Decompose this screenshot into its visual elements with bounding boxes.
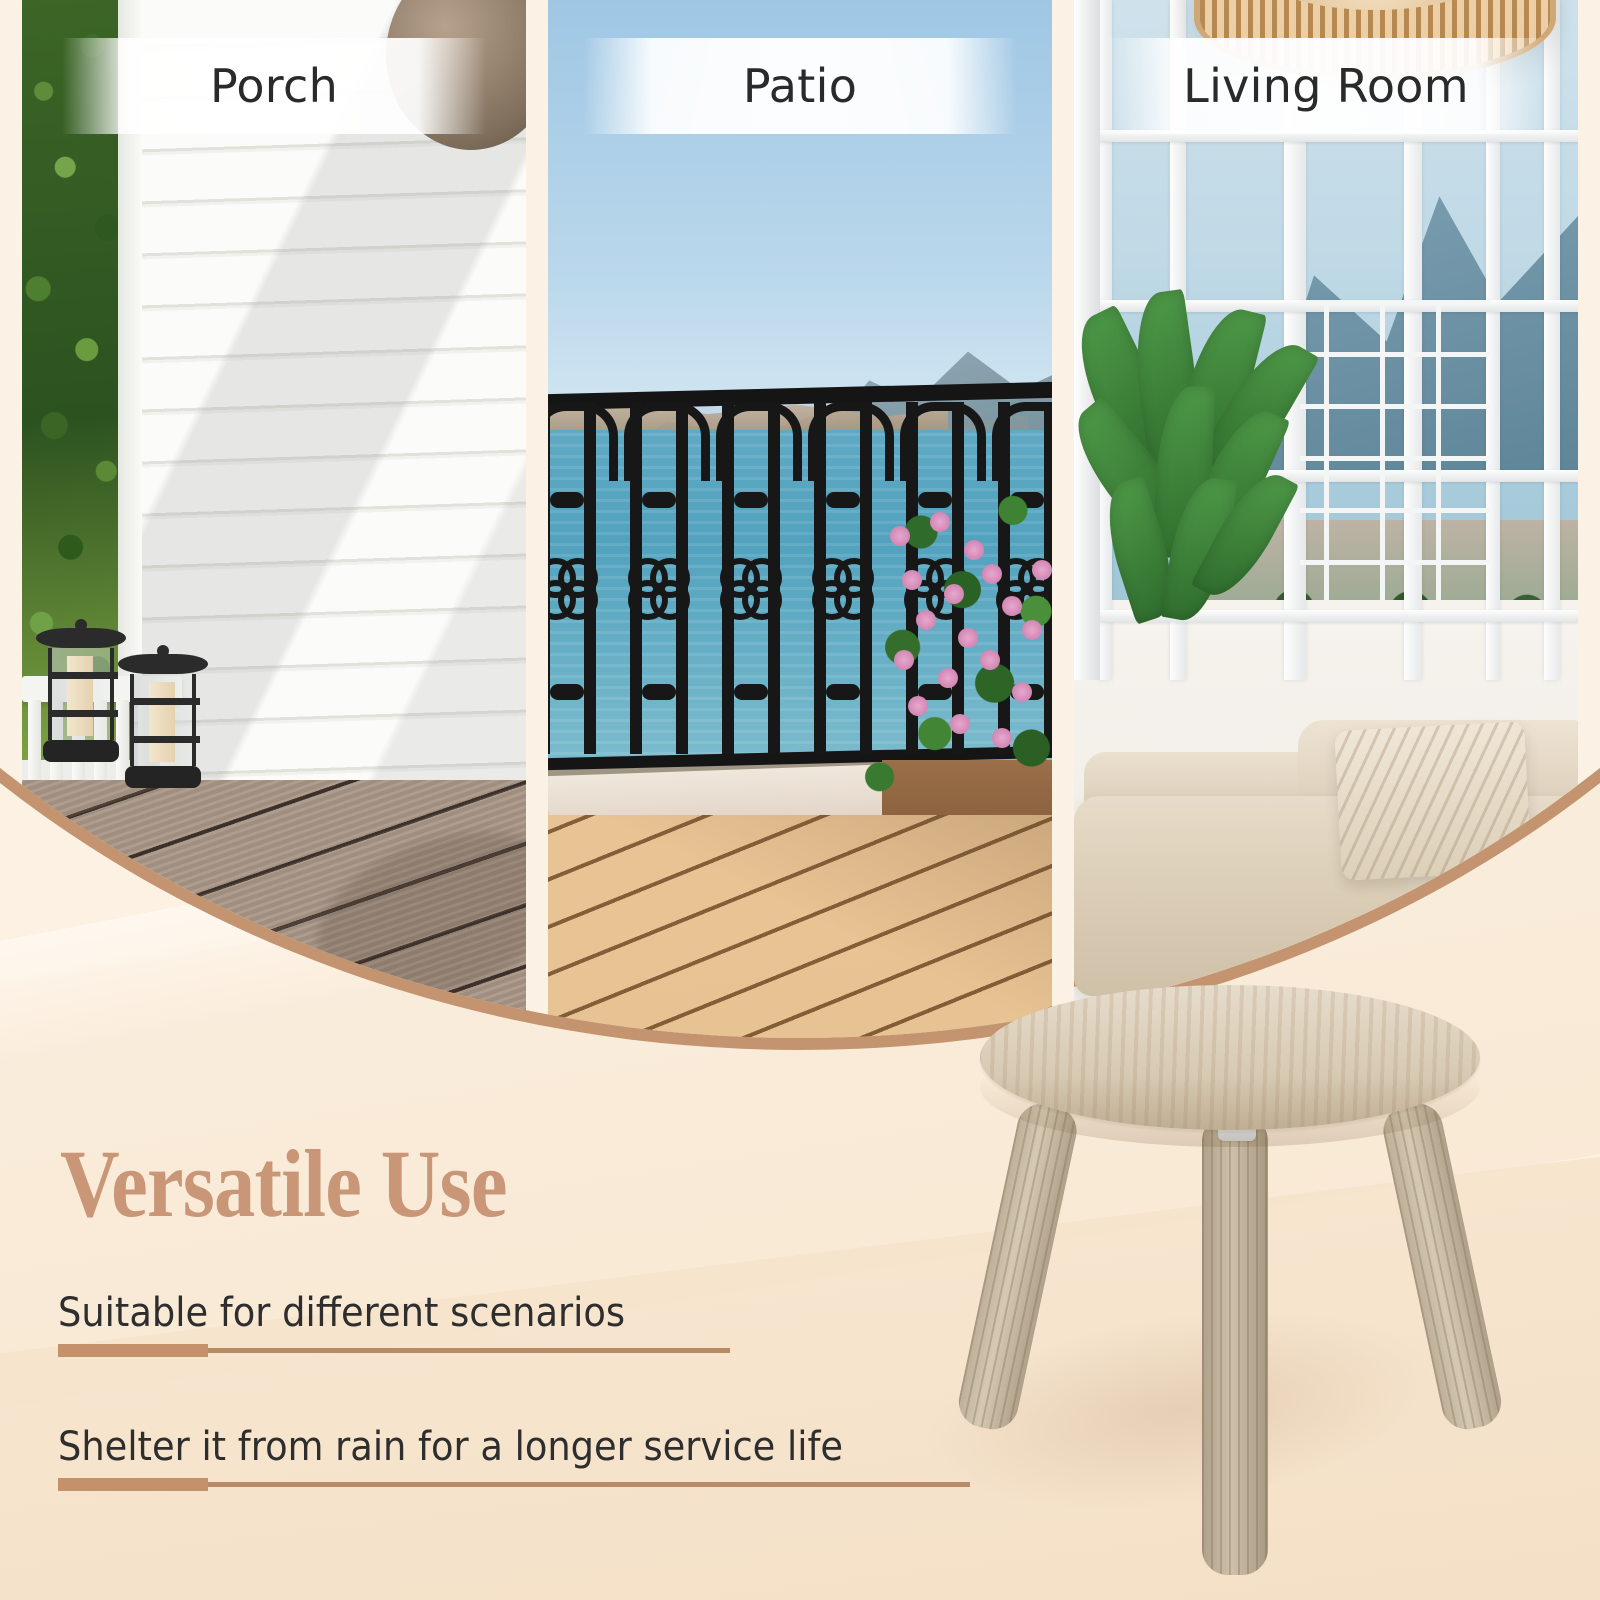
shrub-blossom xyxy=(964,540,984,560)
panel-gutter-2 xyxy=(1052,0,1074,1060)
shrub-blossom xyxy=(982,564,1002,584)
railing-finial xyxy=(642,492,676,508)
scene-panels: Porch xyxy=(0,0,1600,1060)
railing-finial xyxy=(734,492,768,508)
pendant-inner-shade xyxy=(1256,0,1494,10)
shrub-blossom xyxy=(890,526,910,546)
lantern-candle xyxy=(67,656,93,736)
feature-bullet-text: Shelter it from rain for a longer servic… xyxy=(58,1424,843,1470)
lantern-ring xyxy=(52,710,118,717)
lantern-ring xyxy=(134,736,200,743)
feature-bullet-rule-accent xyxy=(58,1344,208,1357)
shrub-blossom xyxy=(930,512,950,532)
lantern-base xyxy=(125,766,201,788)
shrub-blossom xyxy=(950,714,970,734)
table-leg-center xyxy=(1202,1115,1268,1575)
lantern-ring xyxy=(134,698,200,705)
lantern-cap xyxy=(118,654,208,674)
shrub-blossom xyxy=(894,650,914,670)
porch-lantern-1 xyxy=(36,628,126,762)
shrub-blossom xyxy=(916,610,936,630)
railing-quatrefoil-ornament xyxy=(720,558,782,620)
scene-panel-patio: Patio xyxy=(548,0,1052,1060)
shrub-blossom xyxy=(980,650,1000,670)
scene-label-porch: Porch xyxy=(62,38,485,134)
shrub-blossom xyxy=(944,584,964,604)
feature-bullet-rule xyxy=(58,1482,970,1487)
photo-strip: Porch xyxy=(0,0,1600,1060)
railing-quatrefoil-ornament xyxy=(548,558,598,620)
scene-label-text: Living Room xyxy=(1183,59,1469,113)
table-top-rim-shading xyxy=(980,1027,1480,1147)
scene-label-text: Porch xyxy=(210,59,338,113)
product-side-table xyxy=(980,985,1500,1585)
feature-bullet-2: Shelter it from rain for a longer servic… xyxy=(58,1424,970,1487)
patio-flowering-shrub xyxy=(852,460,1052,820)
feature-bullet-rule-accent xyxy=(58,1478,208,1491)
railing-quatrefoil-ornament xyxy=(628,558,690,620)
shrub-blossom xyxy=(1032,560,1052,580)
shrub-blossom xyxy=(958,628,978,648)
page-title: Versatile Use xyxy=(60,1136,507,1232)
lantern-cap xyxy=(36,628,126,648)
panel-gutter-1 xyxy=(526,0,548,1060)
shrub-blossom xyxy=(992,728,1012,748)
railing-finial xyxy=(550,492,584,508)
lantern-knob-icon xyxy=(75,619,87,631)
shrub-blossom xyxy=(902,570,922,590)
lantern-knob-icon xyxy=(157,645,169,657)
lantern-ring xyxy=(52,672,118,679)
marketing-banner: Porch xyxy=(0,0,1600,1600)
railing-scroll-ornament xyxy=(548,402,618,481)
railing-finial xyxy=(734,684,768,700)
shrub-blossom xyxy=(938,668,958,688)
lantern-glass xyxy=(130,674,196,766)
feature-bullet-text: Suitable for different scenarios xyxy=(58,1290,625,1336)
shrub-blossom xyxy=(1022,620,1042,640)
shrub-blossom xyxy=(1012,682,1032,702)
railing-finial xyxy=(642,684,676,700)
patio-deck-shade xyxy=(548,815,1052,1060)
shrub-blossom xyxy=(1002,596,1022,616)
railing-scroll-ornament xyxy=(716,402,802,481)
lantern-candle xyxy=(149,682,175,762)
railing-finial xyxy=(550,684,584,700)
shrub-blossom xyxy=(908,696,928,716)
feature-bullet-rule xyxy=(58,1348,730,1353)
porch-lantern-2 xyxy=(118,654,208,788)
scene-label-text: Patio xyxy=(743,59,857,113)
feature-bullet-1: Suitable for different scenarios xyxy=(58,1290,730,1353)
railing-scroll-ornament xyxy=(624,402,710,481)
lantern-glass xyxy=(48,648,114,740)
living-room-plant xyxy=(1084,300,1334,720)
lantern-base xyxy=(43,740,119,762)
scene-label-patio: Patio xyxy=(583,38,1016,134)
patio-deck-floor xyxy=(548,815,1052,1060)
scene-label-living-room: Living Room xyxy=(1104,38,1548,134)
